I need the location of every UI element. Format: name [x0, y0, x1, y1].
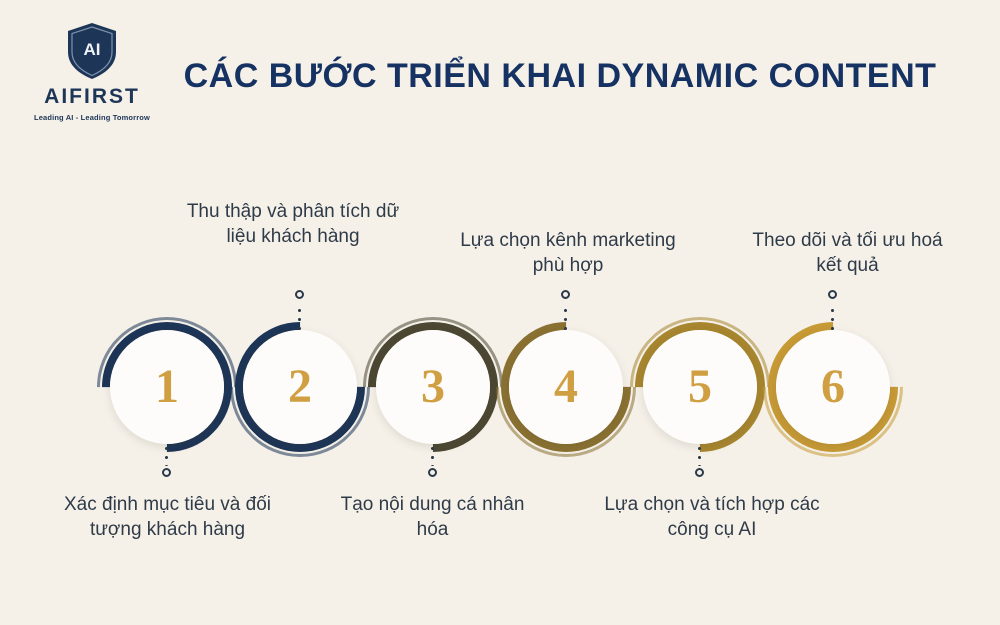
step-circle-5[interactable]: 5	[643, 330, 757, 444]
step-number-2: 2	[288, 363, 312, 411]
step-connector-5	[693, 442, 707, 484]
connector-dots-5	[698, 444, 701, 466]
step-node-2[interactable]: 2	[243, 330, 357, 444]
step-connector-2	[293, 288, 307, 332]
step-circle-4[interactable]: 4	[509, 330, 623, 444]
step-caption-3: Tạo nội dung cá nhân hóa	[330, 492, 535, 542]
step-caption-1: Xác định mục tiêu và đối tượng khách hàn…	[60, 492, 275, 542]
connector-ring-4	[561, 290, 570, 299]
step-circle-6[interactable]: 6	[776, 330, 890, 444]
step-connector-1	[160, 442, 174, 484]
step-node-1[interactable]: 1	[110, 330, 224, 444]
steps-container: 1Xác định mục tiêu và đối tượng khách hà…	[0, 0, 1000, 625]
step-circle-1[interactable]: 1	[110, 330, 224, 444]
step-caption-4: Lựa chọn kênh marketing phù hợp	[452, 228, 684, 278]
connector-dots-6	[831, 306, 834, 332]
step-number-5: 5	[688, 363, 712, 411]
connector-ring-6	[828, 290, 837, 299]
step-circle-3[interactable]: 3	[376, 330, 490, 444]
connector-ring-3	[428, 468, 437, 477]
connector-dots-3	[431, 444, 434, 466]
step-node-3[interactable]: 3	[376, 330, 490, 444]
connector-dots-1	[165, 444, 168, 466]
step-connector-6	[826, 288, 840, 332]
step-connector-3	[426, 442, 440, 484]
step-node-6[interactable]: 6	[776, 330, 890, 444]
step-caption-2: Thu thập và phân tích dữ liệu khách hàng	[183, 199, 403, 249]
step-connector-4	[559, 288, 573, 332]
step-number-3: 3	[421, 363, 445, 411]
step-caption-6: Theo dõi và tối ưu hoá kết quả	[740, 228, 955, 278]
step-number-6: 6	[821, 363, 845, 411]
infographic-page: AI AIFIRST Leading AI - Leading Tomorrow…	[0, 0, 1000, 625]
step-node-5[interactable]: 5	[643, 330, 757, 444]
connector-ring-2	[295, 290, 304, 299]
step-number-4: 4	[554, 363, 578, 411]
connector-dots-2	[298, 306, 301, 332]
connector-ring-1	[162, 468, 171, 477]
step-node-4[interactable]: 4	[509, 330, 623, 444]
step-circle-2[interactable]: 2	[243, 330, 357, 444]
step-caption-5: Lựa chọn và tích hợp các công cụ AI	[592, 492, 832, 542]
step-number-1: 1	[155, 363, 179, 411]
connector-ring-5	[695, 468, 704, 477]
connector-dots-4	[564, 306, 567, 332]
